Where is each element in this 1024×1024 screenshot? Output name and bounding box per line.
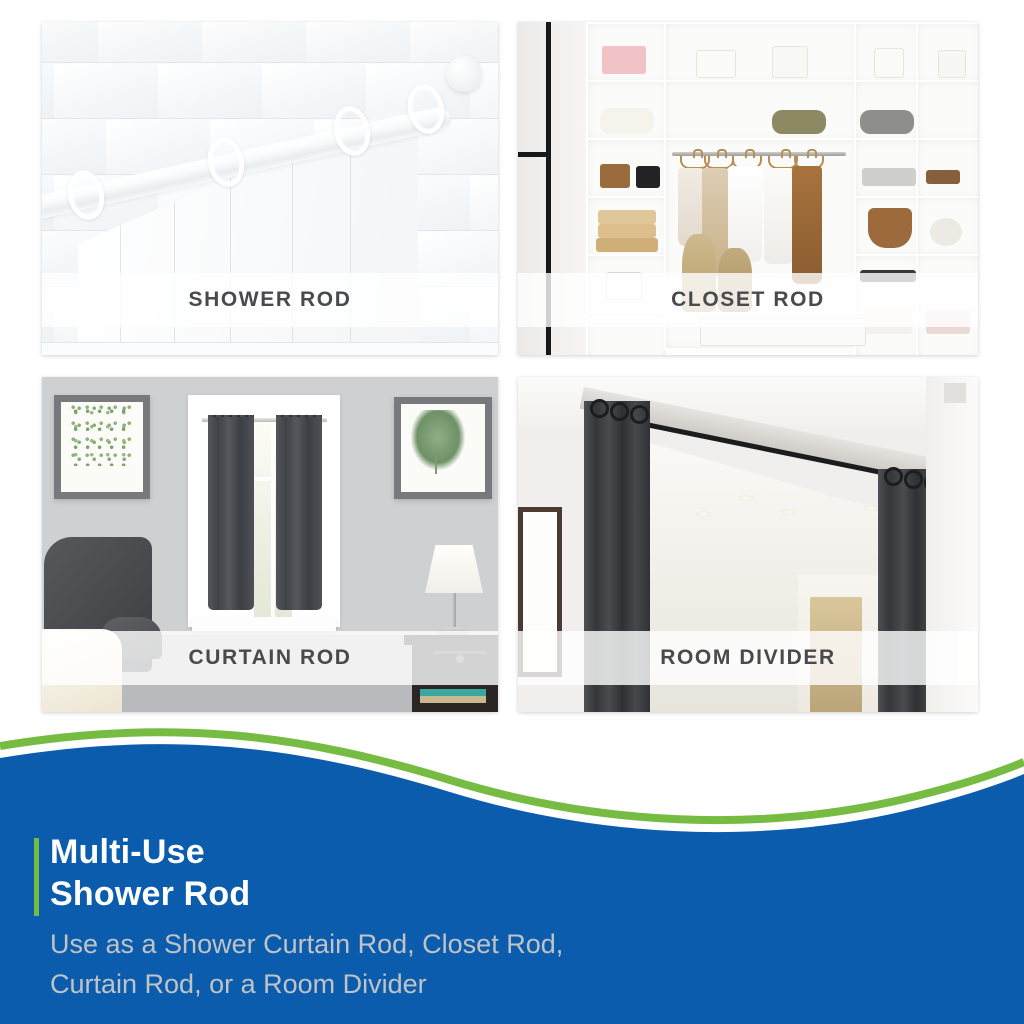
lamp-shade	[425, 545, 483, 593]
product-infographic: SHOWER ROD	[0, 0, 1024, 1024]
curtain-panel-right	[276, 417, 322, 610]
black-door-handle	[518, 152, 551, 157]
hanging-garment	[764, 168, 794, 264]
headline-line-1: Multi-Use	[50, 831, 650, 873]
folded-clothes	[862, 168, 916, 186]
wood-tray	[926, 170, 960, 184]
white-box	[938, 50, 966, 78]
gray-cushion	[860, 110, 914, 134]
panel-caption-band: CLOSET ROD	[518, 273, 978, 327]
panel-caption-band: SHOWER ROD	[42, 273, 498, 327]
white-hat	[930, 218, 962, 246]
product-headline: Multi-Use Shower Rod	[50, 831, 650, 915]
black-heels	[636, 166, 660, 188]
window-mullion	[271, 421, 275, 617]
white-tote	[696, 50, 736, 78]
olive-cushion	[772, 110, 826, 134]
panel-shower-rod[interactable]: SHOWER ROD	[42, 22, 498, 355]
tagline-line-1: Use as a Shower Curtain Rod, Closet Rod,	[50, 924, 830, 964]
green-accent-bar	[34, 838, 39, 916]
storage-box	[598, 224, 656, 238]
rod-wall-flange	[446, 56, 482, 92]
curtain-panel-left	[208, 417, 254, 610]
folded-linen	[600, 108, 654, 134]
woven-bag	[868, 208, 912, 248]
tagline-line-2: Curtain Rod, or a Room Divider	[50, 964, 830, 1004]
wave-divider	[0, 716, 1024, 846]
storage-box	[598, 210, 656, 224]
panel-room-divider[interactable]: ROOM DIVIDER	[518, 377, 978, 712]
hanging-garment	[792, 166, 822, 284]
product-tagline: Use as a Shower Curtain Rod, Closet Rod,…	[50, 924, 830, 1004]
panel-caption-band: CURTAIN ROD	[42, 631, 498, 685]
wood-box	[600, 164, 630, 188]
pink-box	[602, 46, 646, 74]
panel-caption-text: CLOSET ROD	[671, 288, 825, 312]
white-bag	[772, 46, 808, 78]
panel-curtain-rod[interactable]: CURTAIN ROD	[42, 377, 498, 712]
panel-caption-text: ROOM DIVIDER	[660, 646, 836, 670]
books	[420, 689, 486, 696]
framed-art-monstera	[394, 397, 492, 499]
window-sill	[192, 617, 336, 631]
headline-line-2: Shower Rod	[50, 873, 650, 915]
panel-caption-band: ROOM DIVIDER	[518, 631, 978, 685]
ceiling-vent	[944, 383, 966, 403]
storage-box	[596, 238, 658, 252]
framed-art-vines	[54, 395, 150, 499]
tile-row	[42, 22, 498, 64]
panel-caption-text: SHOWER ROD	[189, 288, 352, 312]
panel-closet-rod[interactable]: CLOSET ROD	[518, 22, 978, 355]
white-box	[874, 48, 904, 78]
books	[420, 696, 486, 703]
panel-caption-text: CURTAIN ROD	[188, 646, 351, 670]
